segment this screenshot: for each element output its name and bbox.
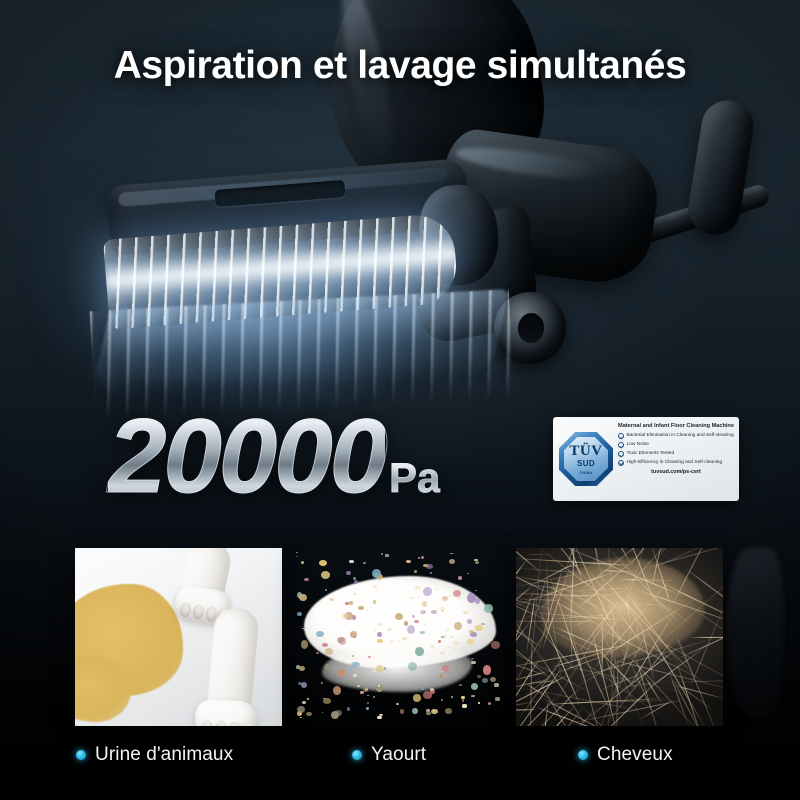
debris-bit bbox=[441, 699, 443, 701]
bullet-dot-icon bbox=[76, 750, 86, 760]
debris-bit bbox=[324, 664, 331, 670]
tuv-feature-list: Bacterial Elimination in Cleaning and Se… bbox=[618, 433, 734, 466]
tuv-feature-label: Toxic Elements Tested bbox=[627, 451, 675, 457]
check-icon bbox=[618, 460, 624, 466]
debris-flake bbox=[426, 712, 430, 715]
debris-bit bbox=[347, 707, 351, 710]
tuv-feature-item: High-Efficiency in Cleaning and Self-cle… bbox=[618, 460, 734, 467]
debris-bit bbox=[339, 637, 346, 644]
debris-flake bbox=[357, 685, 360, 687]
tuv-feature-item: Bacterial Elimination in Cleaning and Se… bbox=[618, 433, 734, 440]
vacuum-handle-grip bbox=[685, 97, 757, 238]
debris-bit bbox=[431, 610, 436, 614]
tuv-details: Maternal and Infant Floor Cleaning Machi… bbox=[618, 421, 734, 497]
debris-bit bbox=[482, 678, 488, 683]
tuv-feature-item: Low Noise bbox=[618, 442, 734, 449]
debris-bit bbox=[297, 612, 302, 615]
debris-bit bbox=[484, 604, 492, 613]
debris-bit bbox=[491, 641, 500, 649]
debris-bit bbox=[354, 580, 357, 584]
page-title: Aspiration et lavage simultanés bbox=[0, 44, 800, 88]
debris-bit bbox=[351, 662, 360, 667]
debris-bit bbox=[481, 623, 484, 625]
debris-bit bbox=[373, 600, 376, 603]
tuv-feature-item: Toxic Elements Tested bbox=[618, 451, 734, 458]
debris-flake bbox=[373, 670, 376, 672]
debris-bit bbox=[321, 571, 330, 579]
pressure-unit: Pa bbox=[389, 457, 440, 499]
debris-bit bbox=[414, 620, 418, 623]
tuv-feature-label: High-Efficiency in Cleaning and Self-cle… bbox=[627, 460, 723, 466]
debris-bit bbox=[412, 615, 415, 618]
debris-bit bbox=[304, 578, 309, 581]
debris-bit bbox=[483, 665, 491, 674]
caption-label: Yaourt bbox=[371, 744, 426, 766]
debris-bit bbox=[469, 630, 475, 634]
debris-bit bbox=[346, 571, 350, 575]
debris-flake bbox=[436, 588, 438, 590]
debris-flake bbox=[450, 636, 453, 638]
debris-bit bbox=[335, 710, 342, 716]
suction-pressure-callout: 20000 Pa bbox=[108, 404, 440, 509]
debris-bit bbox=[329, 598, 334, 601]
debris-flake bbox=[462, 704, 467, 707]
tuv-logo: TÜV SUD CHINA bbox=[557, 421, 615, 497]
check-icon bbox=[618, 433, 624, 439]
tuv-certification-badge: TÜV SUD CHINA Maternal and Infant Floor … bbox=[553, 417, 739, 501]
debris-bit bbox=[407, 625, 415, 634]
debris-flake bbox=[442, 671, 444, 672]
product-poster: Aspiration et lavage simultanés 20000 Pa… bbox=[0, 0, 800, 800]
debris-bit bbox=[475, 625, 483, 632]
tuv-feature-label: Low Noise bbox=[627, 442, 649, 448]
debris-flake bbox=[478, 702, 480, 703]
debris-flake bbox=[446, 629, 449, 631]
debris-bit bbox=[298, 682, 302, 685]
debris-flake bbox=[402, 637, 406, 640]
debris-flake bbox=[457, 596, 461, 599]
debris-flake bbox=[440, 652, 445, 655]
thumbnail-pet-urine bbox=[75, 548, 282, 726]
debris-flake bbox=[397, 640, 400, 642]
debris-bit bbox=[366, 707, 369, 710]
debris-flake bbox=[387, 629, 390, 631]
debris-flake bbox=[396, 703, 399, 705]
caption-yogurt: Yaourt bbox=[352, 744, 426, 766]
check-icon bbox=[618, 442, 624, 448]
debris-flake bbox=[296, 552, 298, 553]
debris-flake bbox=[378, 623, 382, 626]
caption-label: Urine d'animaux bbox=[95, 744, 233, 766]
debris-flake bbox=[390, 640, 393, 642]
use-case-thumbnails bbox=[0, 548, 800, 728]
debris-bit bbox=[413, 694, 422, 702]
debris-flake bbox=[415, 586, 420, 589]
debris-bit bbox=[408, 662, 417, 671]
debris-bit bbox=[418, 557, 420, 559]
debris-bit bbox=[322, 643, 328, 647]
tuv-logo-sub: SUD bbox=[577, 460, 595, 468]
dog-paw bbox=[194, 698, 258, 726]
debris-bit bbox=[350, 631, 357, 637]
debris-bit bbox=[477, 675, 481, 678]
debris-bit bbox=[488, 702, 491, 705]
debris-bit bbox=[467, 619, 473, 624]
debris-bit bbox=[319, 560, 326, 566]
tuv-feature-label: Bacterial Elimination in Cleaning and Se… bbox=[627, 433, 734, 439]
debris-flake bbox=[374, 629, 377, 631]
debris-flake bbox=[377, 716, 382, 720]
debris-flake bbox=[349, 560, 354, 563]
debris-bit bbox=[345, 602, 349, 604]
debris-flake bbox=[494, 683, 499, 687]
debris-bit bbox=[395, 613, 403, 620]
debris-flake bbox=[495, 697, 500, 700]
debris-bit bbox=[423, 564, 428, 567]
tuv-title: Maternal and Infant Floor Cleaning Machi… bbox=[618, 423, 734, 430]
debris-bit bbox=[421, 687, 424, 690]
debris-flake bbox=[373, 585, 377, 588]
bullet-dot-icon bbox=[578, 750, 588, 760]
check-icon bbox=[618, 451, 624, 457]
tuv-octagon-icon: TÜV SUD CHINA bbox=[559, 432, 613, 486]
debris-flake bbox=[420, 610, 423, 612]
debris-flake bbox=[454, 641, 459, 645]
caption-hair: Cheveux bbox=[578, 744, 673, 766]
debris-bit bbox=[296, 665, 300, 669]
debris-flake bbox=[474, 559, 478, 562]
debris-flake bbox=[366, 609, 368, 611]
debris-bit bbox=[442, 665, 449, 673]
debris-bit bbox=[299, 594, 306, 601]
debris-bit bbox=[458, 576, 462, 580]
tuv-logo-region: CHINA bbox=[580, 471, 593, 475]
tuv-logo-mark: TÜV bbox=[569, 444, 602, 459]
debris-bit bbox=[358, 606, 364, 610]
debris-flake bbox=[430, 645, 434, 648]
caption-label: Cheveux bbox=[597, 744, 673, 766]
debris-bit bbox=[415, 647, 423, 656]
thumbnail-hair bbox=[516, 548, 723, 726]
debris-flake bbox=[304, 629, 306, 630]
debris-bit bbox=[438, 640, 441, 642]
caption-pet-urine: Urine d'animaux bbox=[76, 744, 233, 766]
debris-flake bbox=[385, 554, 389, 557]
debris-bit bbox=[316, 652, 318, 654]
debris-flake bbox=[430, 572, 433, 574]
debris-flake bbox=[430, 688, 434, 690]
thumbnail-yogurt-spill bbox=[296, 548, 503, 726]
debris-bit bbox=[377, 632, 382, 637]
pressure-value: 20000 bbox=[108, 404, 385, 509]
debris-flake bbox=[471, 695, 475, 698]
debris-flake bbox=[378, 685, 380, 686]
bullet-dot-icon bbox=[352, 750, 362, 760]
debris-bit bbox=[316, 631, 324, 638]
debris-flake bbox=[449, 654, 451, 656]
debris-flake bbox=[471, 661, 476, 664]
debris-bit bbox=[414, 570, 417, 573]
debris-bit bbox=[372, 569, 381, 578]
debris-flake bbox=[353, 674, 357, 677]
thumbnail-captions: Urine d'animaux Yaourt Cheveux bbox=[0, 744, 800, 786]
tuv-certificate-url: tuvsud.com/ps-cert bbox=[618, 469, 734, 475]
debris-bit bbox=[431, 709, 438, 714]
debris-bit bbox=[384, 667, 386, 669]
debris-bit bbox=[440, 674, 443, 678]
debris-bit bbox=[490, 677, 496, 682]
debris-bit bbox=[301, 561, 304, 564]
